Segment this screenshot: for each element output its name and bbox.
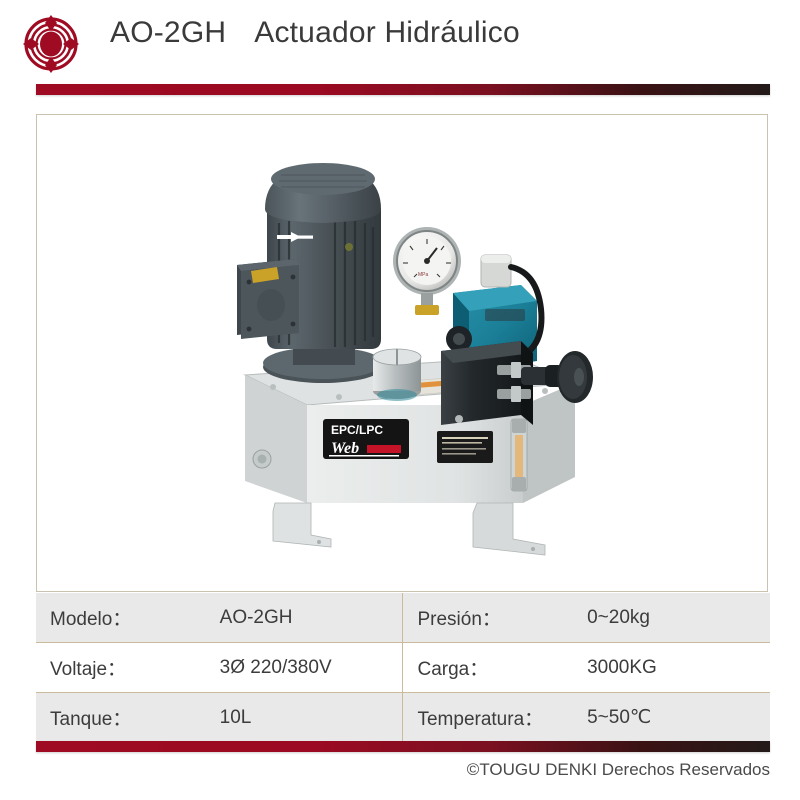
spec-label-carga: Carga： <box>403 643 573 693</box>
table-row: Modelo： AO-2GH Presión： 0~20kg <box>36 593 770 643</box>
svg-text:Web: Web <box>331 440 359 457</box>
product-photo: EPC/LPC Web <box>37 115 767 591</box>
oil-level-sight-glass <box>511 419 527 491</box>
page-header: AO-2GHActuador Hidráulico <box>0 0 800 82</box>
svg-text:EPC/LPC: EPC/LPC <box>331 423 383 437</box>
spec-value-temperatura: 5~50℃ <box>573 693 770 743</box>
product-code: AO-2GH <box>110 16 226 49</box>
hydraulic-power-unit-illustration: EPC/LPC Web <box>215 143 595 563</box>
table-row: Voltaje： 3Ø 220/380V Carga： 3000KG <box>36 643 770 693</box>
spec-value-modelo: AO-2GH <box>206 593 403 643</box>
product-photo-panel: EPC/LPC Web <box>36 114 768 592</box>
copyright-notice: ©TOUGU DENKI Derechos Reservados <box>467 760 770 780</box>
page-title: AO-2GHActuador Hidráulico <box>110 16 520 50</box>
spec-label-presion: Presión： <box>403 593 573 643</box>
electric-motor <box>237 163 383 383</box>
specification-table: Modelo： AO-2GH Presión： 0~20kg Voltaje： … <box>36 593 770 741</box>
motor-terminal-box <box>237 259 299 339</box>
spec-label-tanque: Tanque： <box>36 693 206 743</box>
product-spec-sheet: AO-2GHActuador Hidráulico <box>0 0 800 800</box>
header-accent-bar <box>36 84 770 95</box>
valve-manifold-block <box>441 341 533 425</box>
spec-label-voltaje: Voltaje： <box>36 643 206 693</box>
tank-brand-label: EPC/LPC Web <box>323 419 409 459</box>
spec-value-presion: 0~20kg <box>573 593 770 643</box>
spec-value-carga: 3000KG <box>573 643 770 693</box>
tank-warning-plate <box>437 431 493 463</box>
spec-value-tanque: 10L <box>206 693 403 743</box>
spec-value-voltaje: 3Ø 220/380V <box>206 643 403 693</box>
pressure-gauge: MPa <box>393 227 461 315</box>
svg-text:MPa: MPa <box>418 272 429 278</box>
spec-label-modelo: Modelo： <box>36 593 206 643</box>
company-logo-icon <box>22 14 80 74</box>
filler-breather-cap <box>373 349 421 401</box>
spec-label-temperatura: Temperatura： <box>403 693 573 743</box>
product-name: Actuador Hidráulico <box>254 16 520 49</box>
footer-accent-bar <box>36 741 770 752</box>
table-row: Tanque： 10L Temperatura： 5~50℃ <box>36 693 770 743</box>
